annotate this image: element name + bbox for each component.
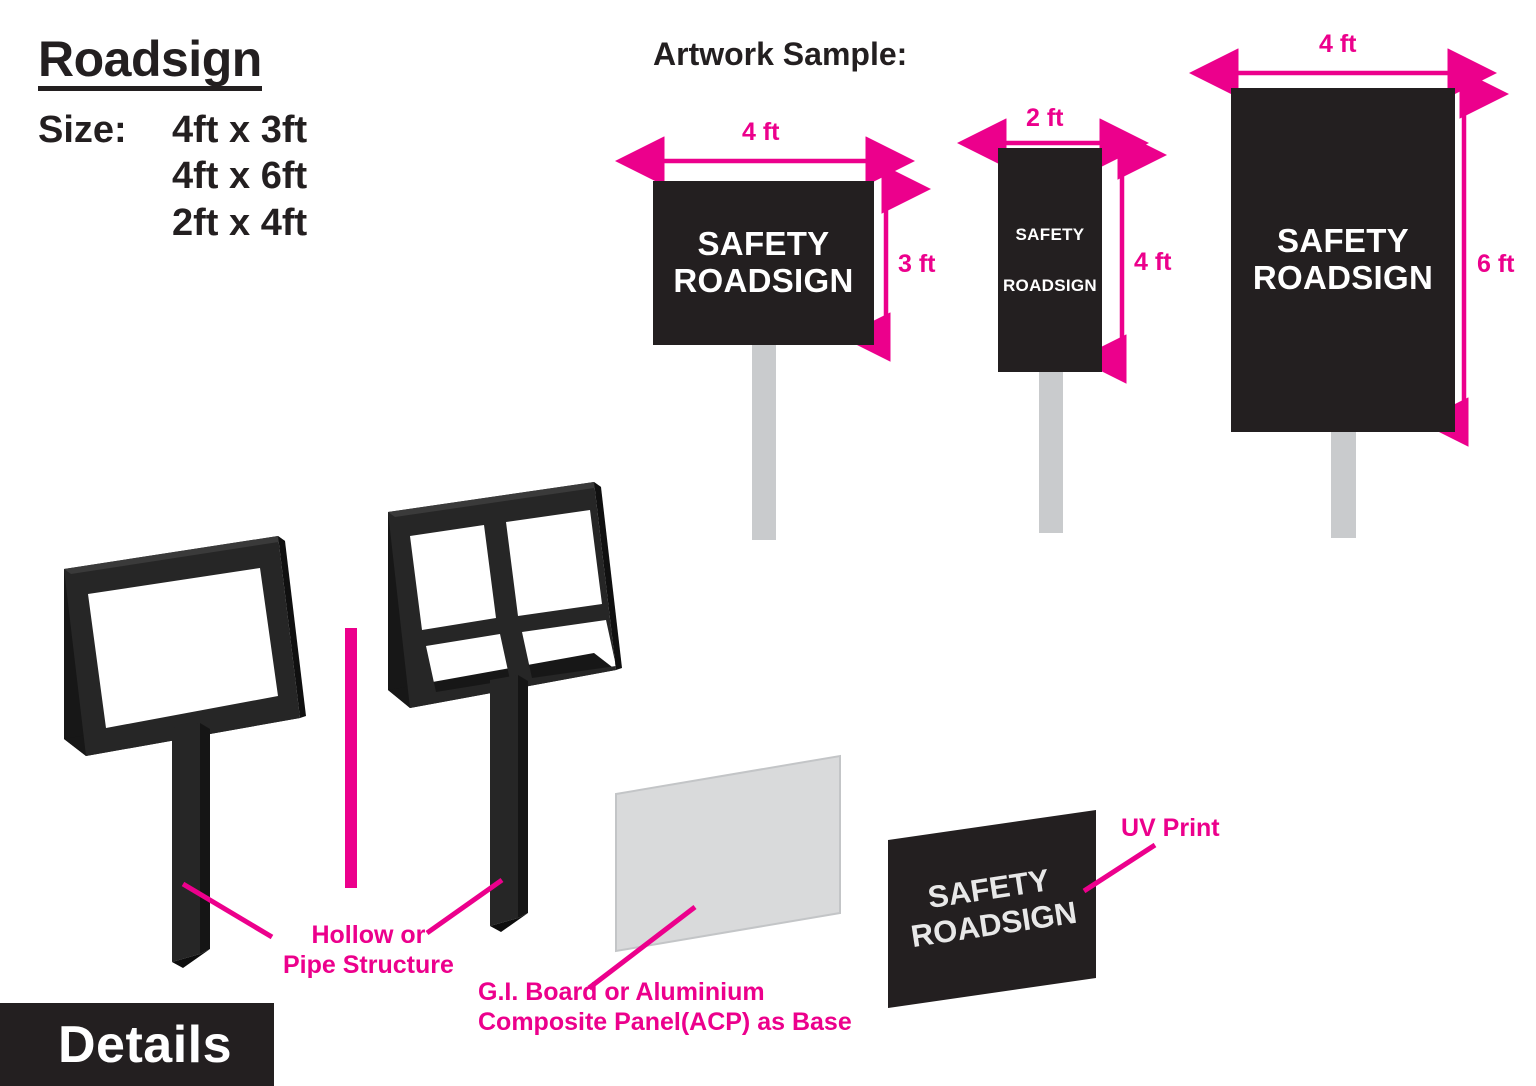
callout-base-material: G.I. Board or Aluminium Composite Panel(… xyxy=(478,978,852,1037)
callout-leader-lines xyxy=(0,0,1536,1086)
details-banner-label: Details xyxy=(0,1015,232,1075)
callout-pipe-structure: Hollow or Pipe Structure xyxy=(283,921,454,980)
callout-uv-print: UV Print xyxy=(1121,814,1220,844)
roadsign-spec-sheet: Roadsign Size: 4ft x 3ft 4ft x 6ft 2ft x… xyxy=(0,0,1536,1086)
details-banner: Details xyxy=(0,1003,274,1086)
